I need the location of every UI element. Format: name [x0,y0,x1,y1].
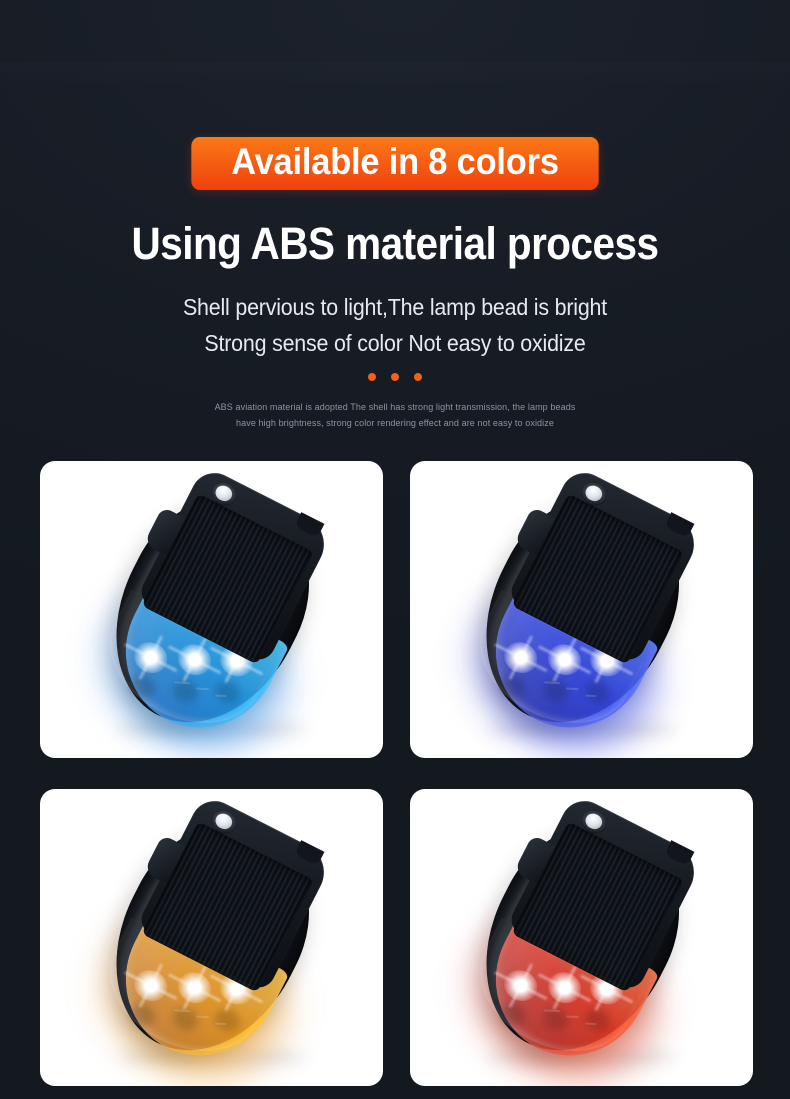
solar-marker-light-image [432,478,732,738]
vent-slits [540,679,611,713]
separator-dot [414,373,422,381]
dot-separator [0,373,790,381]
vent-slit [544,681,560,684]
available-colors-badge: Available in 8 colors [191,137,598,190]
solar-marker-light-image [62,478,362,738]
separator-dot [368,373,376,381]
vent-slit [195,687,208,690]
vent-slits [170,1007,241,1041]
product-gallery-grid [40,461,753,1086]
subtitle-line-2: Strong sense of color Not easy to oxidiz… [28,330,763,356]
vent-slit [565,687,578,690]
vent-slit [215,694,226,697]
vent-slits [170,679,241,713]
vent-slit [565,1015,578,1018]
vent-slit [215,1022,226,1025]
separator-dot [391,373,399,381]
vent-slit [195,1015,208,1018]
fineprint-line-1: ABS aviation material is adopted The she… [0,399,790,415]
background-band [0,62,790,88]
fineprint-line-2: have high brightness, strong color rende… [0,415,790,431]
page-title: Using ABS material process [40,219,751,269]
vent-slit [174,1009,190,1012]
product-card[interactable] [40,789,383,1086]
product-card[interactable] [40,461,383,758]
vent-slits [540,1007,611,1041]
vent-slit [585,694,596,697]
vent-slit [174,681,190,684]
solar-marker-light-image [62,806,362,1066]
badge-row: Available in 8 colors [0,137,790,190]
solar-marker-light-image [432,806,732,1066]
vent-slit [585,1022,596,1025]
product-card[interactable] [410,789,753,1086]
product-card[interactable] [410,461,753,758]
product-feature-page: Available in 8 colors Using ABS material… [0,0,790,1099]
vent-slit [544,1009,560,1012]
subtitle-line-1: Shell pervious to light,The lamp bead is… [28,294,763,320]
